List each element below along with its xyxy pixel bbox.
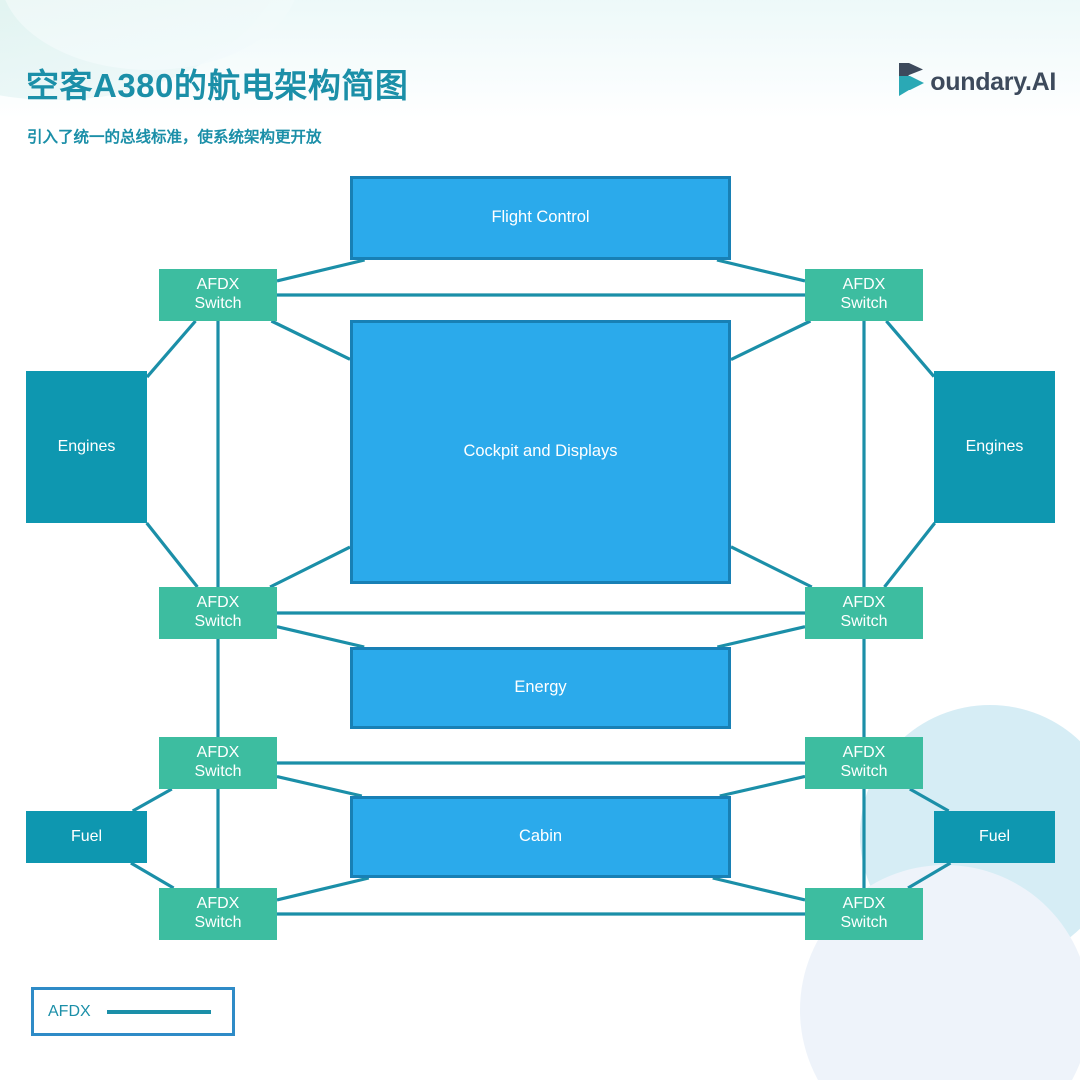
link-afdx-switch-r3--fuel-right: [910, 789, 949, 811]
node-cockpit-displays[interactable]: Cockpit and Displays: [350, 320, 731, 584]
link-afdx-switch-r2--cockpit-displays: [731, 547, 812, 587]
link-afdx-switch-r3--cabin: [720, 776, 805, 796]
node-label: Fuel: [71, 828, 102, 847]
link-afdx-switch-l4--cabin: [277, 878, 369, 900]
node-label: Engines: [966, 438, 1024, 457]
node-afdx-switch-r1[interactable]: AFDX Switch: [805, 269, 923, 321]
node-cabin[interactable]: Cabin: [350, 796, 731, 878]
node-label: AFDX Switch: [840, 276, 887, 314]
node-afdx-switch-r2[interactable]: AFDX Switch: [805, 587, 923, 639]
node-label: AFDX Switch: [840, 744, 887, 782]
node-engines-right[interactable]: Engines: [934, 371, 1055, 523]
node-flight-control[interactable]: Flight Control: [350, 176, 731, 260]
node-label: AFDX Switch: [194, 594, 241, 632]
link-afdx-switch-l2--energy: [277, 627, 364, 647]
legend: AFDX: [31, 987, 235, 1036]
node-label: Cockpit and Displays: [463, 442, 617, 461]
node-fuel-right[interactable]: Fuel: [934, 811, 1055, 863]
node-label: AFDX Switch: [194, 276, 241, 314]
avionics-architecture-diagram: Flight ControlCockpit and DisplaysEnergy…: [0, 0, 1080, 1080]
legend-label-afdx: AFDX: [48, 1003, 91, 1021]
node-afdx-switch-r3[interactable]: AFDX Switch: [805, 737, 923, 789]
link-afdx-switch-r4--cabin: [713, 878, 805, 900]
link-afdx-switch-l4--fuel-left: [131, 863, 174, 888]
node-label: Engines: [58, 438, 116, 457]
node-engines-left[interactable]: Engines: [26, 371, 147, 523]
link-afdx-switch-l1--engines-left: [147, 321, 196, 377]
node-label: AFDX Switch: [840, 594, 887, 632]
link-afdx-switch-r2--energy: [717, 627, 805, 647]
node-energy[interactable]: Energy: [350, 647, 731, 729]
link-afdx-switch-r1--engines-right: [886, 321, 934, 377]
node-label: Cabin: [519, 827, 562, 846]
node-label: AFDX Switch: [194, 744, 241, 782]
infographic-page: 空客A380的航电架构简图 引入了统一的总线标准，使系统架构更开放 oundar…: [0, 0, 1080, 1080]
node-afdx-switch-r4[interactable]: AFDX Switch: [805, 888, 923, 940]
node-afdx-switch-l1[interactable]: AFDX Switch: [159, 269, 277, 321]
link-afdx-switch-l1--flight-control: [277, 260, 365, 281]
link-afdx-switch-l2--cockpit-displays: [270, 547, 350, 587]
node-afdx-switch-l4[interactable]: AFDX Switch: [159, 888, 277, 940]
link-afdx-switch-r4--fuel-right: [908, 863, 950, 888]
link-afdx-switch-r1--flight-control: [717, 260, 805, 281]
link-afdx-switch-l1--cockpit-displays: [271, 321, 350, 359]
node-label: Flight Control: [491, 208, 589, 227]
node-afdx-switch-l3[interactable]: AFDX Switch: [159, 737, 277, 789]
link-afdx-switch-r2--engines-right: [884, 523, 934, 587]
link-afdx-switch-l3--fuel-left: [133, 789, 172, 811]
node-label: AFDX Switch: [840, 895, 887, 933]
node-afdx-switch-l2[interactable]: AFDX Switch: [159, 587, 277, 639]
legend-line-swatch: [107, 1010, 211, 1014]
node-fuel-left[interactable]: Fuel: [26, 811, 147, 863]
link-afdx-switch-l2--engines-left: [147, 523, 198, 587]
node-label: Energy: [514, 678, 566, 697]
link-afdx-switch-r1--cockpit-displays: [731, 321, 810, 360]
node-label: AFDX Switch: [194, 895, 241, 933]
node-label: Fuel: [979, 828, 1010, 847]
link-afdx-switch-l3--cabin: [277, 777, 362, 796]
